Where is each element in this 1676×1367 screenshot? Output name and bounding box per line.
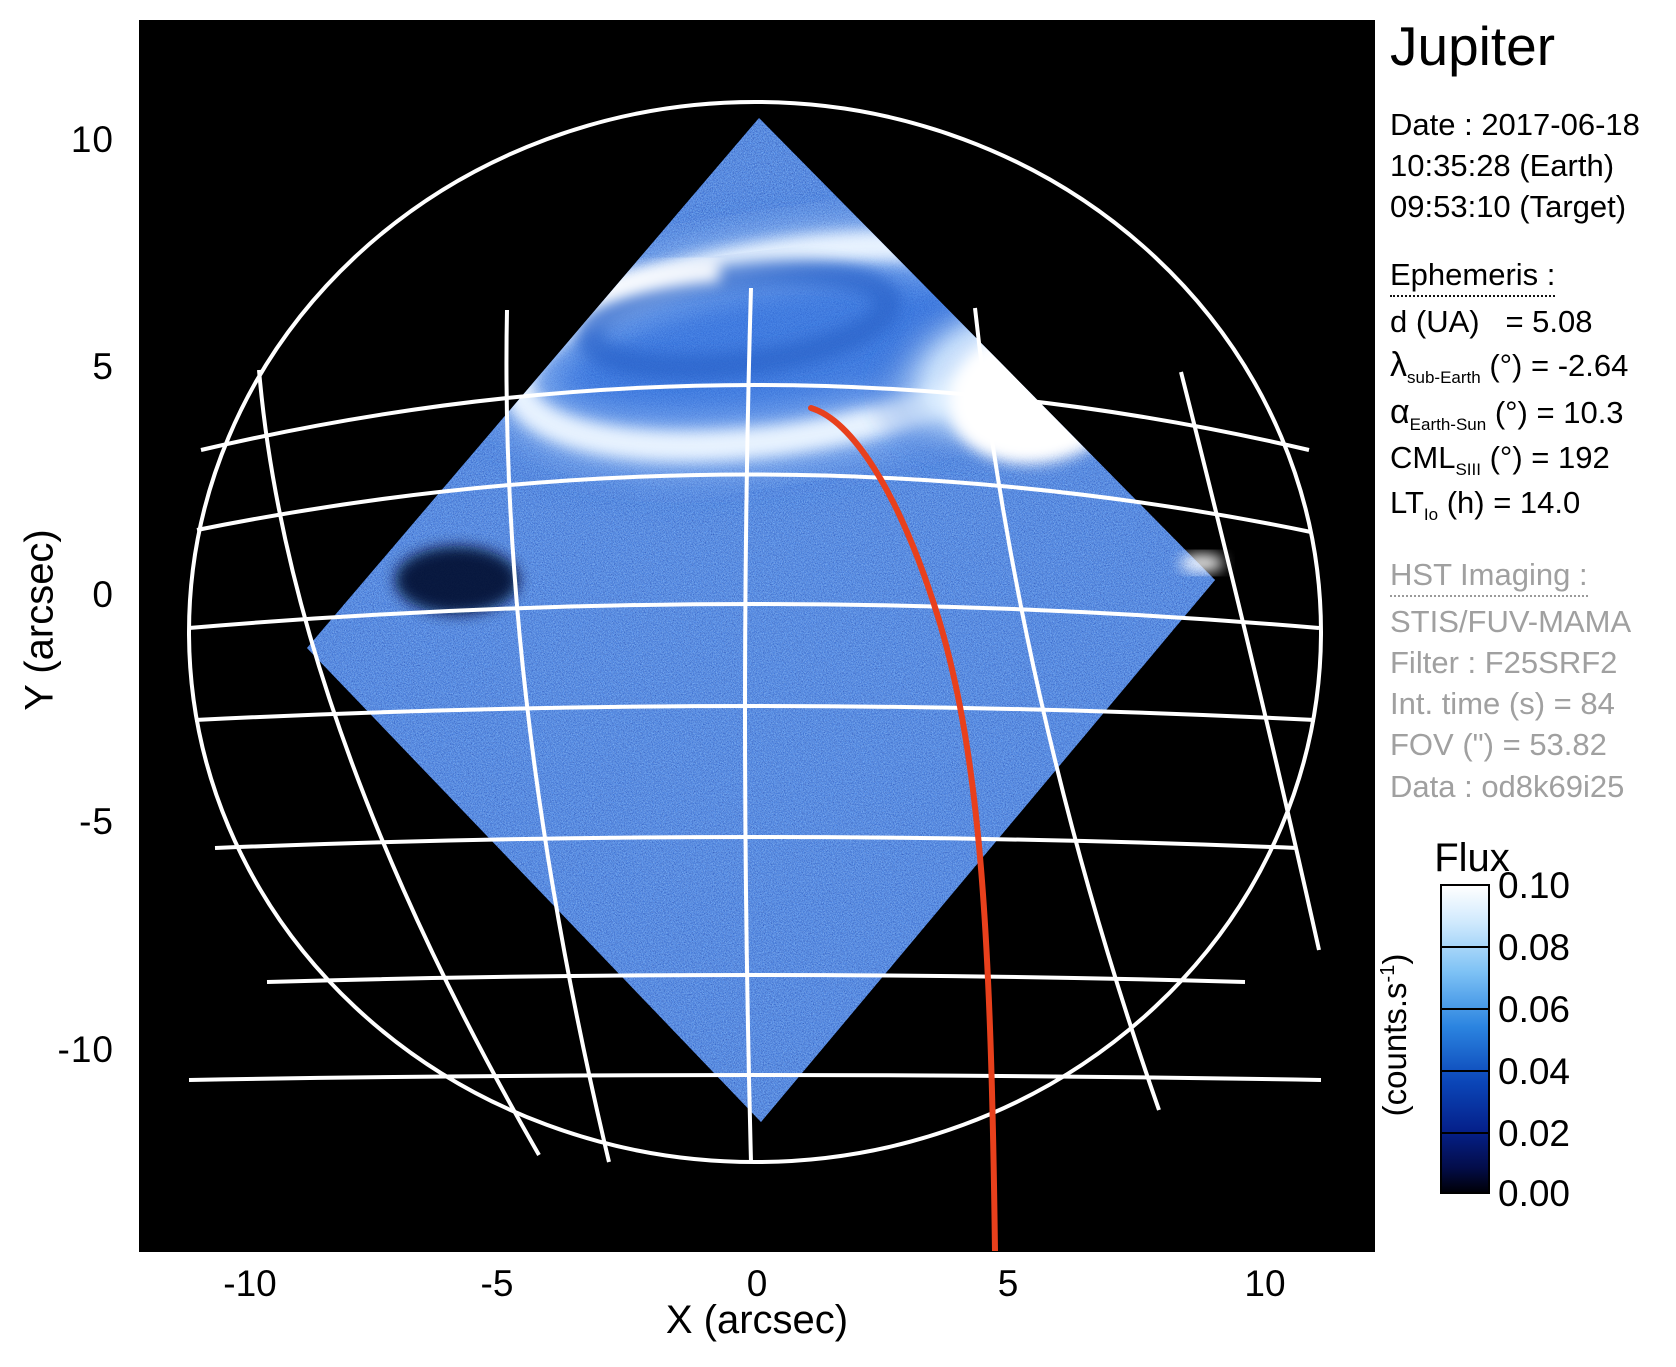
colorbar-units-close: ) bbox=[1376, 954, 1413, 965]
eph-unit-lt: (h) bbox=[1447, 485, 1485, 520]
eph-symbol-d: d bbox=[1390, 304, 1407, 339]
ephemeris-heading: Ephemeris : bbox=[1390, 257, 1555, 297]
ephemeris-row-distance: d (UA) = 5.08 bbox=[1390, 301, 1676, 343]
date-block: Date : 2017-06-18 10:35:28 (Earth) 09:53… bbox=[1390, 104, 1676, 228]
colorbar-tick-mark bbox=[1440, 884, 1490, 886]
y-tick-label: -5 bbox=[79, 801, 114, 843]
eph-sub-lambda: sub-Earth bbox=[1407, 368, 1481, 387]
eph-symbol-cml: CML bbox=[1390, 440, 1455, 475]
colorbar-tick-mark bbox=[1440, 1070, 1490, 1072]
eph-unit-d: (UA) bbox=[1416, 304, 1480, 339]
hst-integration-time: Int. time (s) = 84 bbox=[1390, 683, 1676, 724]
hst-imaging-heading: HST Imaging : bbox=[1390, 557, 1588, 597]
colorbar-tick-label: 0.00 bbox=[1498, 1173, 1570, 1215]
hst-fov: FOV (") = 53.82 bbox=[1390, 724, 1676, 765]
aurora-image-plot bbox=[139, 20, 1375, 1252]
colorbar-tick-label: 0.02 bbox=[1498, 1113, 1570, 1155]
jupiter-disk-render bbox=[139, 20, 1375, 1252]
hst-dataset-id: Data : od8k69i25 bbox=[1390, 766, 1676, 807]
eph-sub-alpha: Earth-Sun bbox=[1410, 415, 1487, 434]
colorbar-tick-mark bbox=[1440, 1132, 1490, 1134]
hst-imaging-block: HST Imaging : STIS/FUV-MAMA Filter : F25… bbox=[1390, 557, 1676, 807]
hst-instrument: STIS/FUV-MAMA bbox=[1390, 601, 1676, 642]
colorbar-units-exponent: -1 bbox=[1377, 965, 1399, 983]
y-tick-label: -10 bbox=[58, 1029, 114, 1071]
ephemeris-row-io-local-time: LTIo (h) = 14.0 bbox=[1390, 482, 1676, 527]
eph-value-d: = 5.08 bbox=[1505, 304, 1592, 339]
ephemeris-row-sub-earth-lat: λsub-Earth (°) = -2.64 bbox=[1390, 343, 1676, 390]
colorbar-axis-label: (counts.s-1) bbox=[1376, 954, 1414, 1117]
colorbar-tick-mark bbox=[1440, 1008, 1490, 1010]
x-tick-label: 5 bbox=[998, 1263, 1019, 1305]
eph-unit-lambda: (°) bbox=[1489, 348, 1522, 383]
y-tick-label: 5 bbox=[92, 346, 114, 388]
colorbar-tick-mark bbox=[1440, 1192, 1490, 1194]
colorbar-tick-label: 0.06 bbox=[1498, 989, 1570, 1031]
y-tick-label: 0 bbox=[92, 574, 114, 616]
colorbar-tick-label: 0.10 bbox=[1498, 865, 1570, 907]
y-axis-label: Y (arcsec) bbox=[18, 420, 63, 820]
colorbar-tick-label: 0.04 bbox=[1498, 1051, 1570, 1093]
colorbar-tick-mark bbox=[1440, 946, 1490, 948]
earth-time: 10:35:28 (Earth) bbox=[1390, 145, 1676, 186]
target-time: 09:53:10 (Target) bbox=[1390, 186, 1676, 227]
colorbar-tick-label: 0.08 bbox=[1498, 927, 1570, 969]
eph-symbol-lt: LT bbox=[1390, 485, 1424, 520]
eph-sub-lt: Io bbox=[1424, 505, 1438, 524]
observation-date: Date : 2017-06-18 bbox=[1390, 104, 1676, 145]
page-title: Jupiter bbox=[1390, 18, 1676, 76]
limb-bright-pixel bbox=[1180, 554, 1224, 572]
eph-value-lambda: = -2.64 bbox=[1531, 348, 1628, 383]
ephemeris-row-cml: CMLSIII (°) = 192 bbox=[1390, 437, 1676, 482]
dark-spot bbox=[395, 546, 519, 614]
ephemeris-row-phase-angle: αEarth-Sun (°) = 10.3 bbox=[1390, 390, 1676, 437]
colorbar-gradient bbox=[1440, 884, 1490, 1194]
eph-value-cml: = 192 bbox=[1531, 440, 1609, 475]
eph-unit-alpha: (°) bbox=[1495, 395, 1528, 430]
hst-filter: Filter : F25SRF2 bbox=[1390, 642, 1676, 683]
eph-unit-cml: (°) bbox=[1490, 440, 1523, 475]
eph-symbol-lambda: λ bbox=[1390, 346, 1407, 384]
eph-sub-cml: SIII bbox=[1455, 460, 1481, 479]
eph-value-lt: = 14.0 bbox=[1493, 485, 1580, 520]
info-panel: Jupiter Date : 2017-06-18 10:35:28 (Eart… bbox=[1390, 0, 1676, 807]
eph-value-alpha: = 10.3 bbox=[1537, 395, 1624, 430]
y-tick-label: 10 bbox=[71, 119, 114, 161]
ephemeris-block: Ephemeris : d (UA) = 5.08 λsub-Earth (°)… bbox=[1390, 257, 1676, 526]
x-tick-label: -5 bbox=[481, 1263, 514, 1305]
x-axis-label: X (arcsec) bbox=[666, 1298, 848, 1343]
x-tick-label: 10 bbox=[1244, 1263, 1285, 1305]
eph-symbol-alpha: α bbox=[1390, 393, 1410, 431]
x-tick-label: -10 bbox=[223, 1263, 276, 1305]
colorbar-units-text: (counts.s bbox=[1376, 982, 1413, 1116]
